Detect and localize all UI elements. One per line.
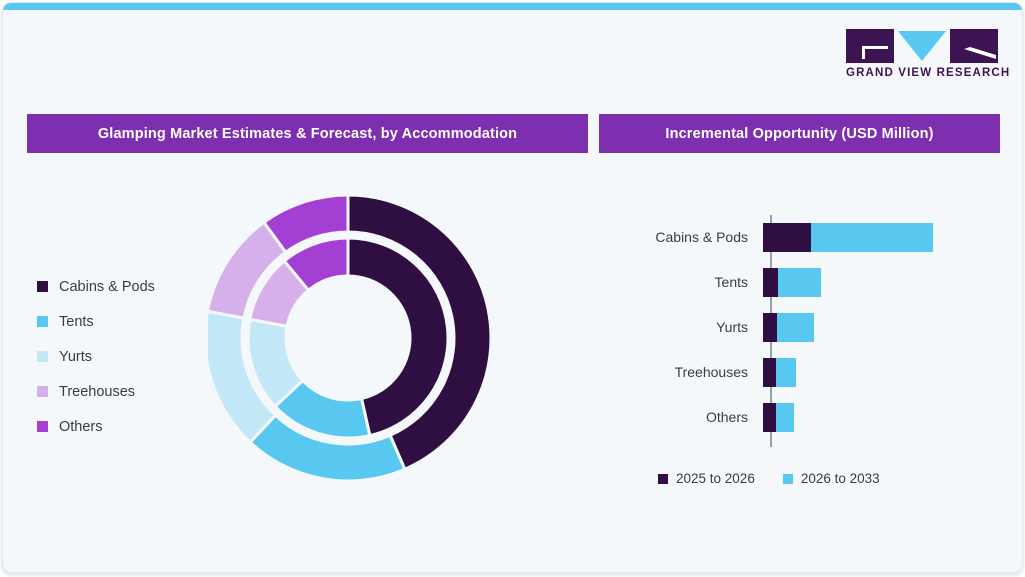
left-chart-title: Glamping Market Estimates & Forecast, by… [98,126,517,142]
bar-segment[interactable] [776,403,794,432]
bar-chart-row: Yurts [643,309,973,345]
donut-legend-item: Tents [37,304,212,339]
grand-view-research-logo: GRAND VIEW RESEARCH [846,29,998,83]
bar-track [763,403,794,432]
bar-legend-item: 2026 to 2033 [783,471,880,486]
bar-segment[interactable] [811,223,933,252]
bar-category-label: Cabins & Pods [643,229,763,245]
bar-segment[interactable] [778,268,821,297]
bar-chart-legend: 2025 to 20262026 to 2033 [658,471,880,486]
legend-color-swatch [37,421,48,432]
legend-color-swatch [37,281,48,292]
bar-legend-item: 2025 to 2026 [658,471,755,486]
bar-track [763,223,933,252]
bar-chart-row: Tents [643,264,973,300]
bar-legend-label: 2026 to 2033 [801,471,880,486]
right-chart-title-bar: Incremental Opportunity (USD Million) [599,114,1000,153]
bar-segment[interactable] [763,223,811,252]
bar-segment[interactable] [776,358,796,387]
bar-track [763,358,796,387]
donut-legend-label: Cabins & Pods [59,279,155,295]
bar-category-label: Yurts [643,319,763,335]
top-accent-bar [3,3,1022,10]
bar-category-label: Tents [643,274,763,290]
bar-legend-label: 2025 to 2026 [676,471,755,486]
bar-category-label: Others [643,409,763,425]
donut-legend-item: Cabins & Pods [37,269,212,304]
donut-svg [208,188,508,488]
donut-legend-label: Tents [59,314,94,330]
donut-legend-item: Others [37,409,212,444]
logo-mark-icon [846,29,998,63]
right-chart-title: Incremental Opportunity (USD Million) [665,126,933,142]
donut-legend-label: Yurts [59,349,92,365]
legend-color-swatch [37,351,48,362]
incremental-opportunity-bar-chart: Cabins & PodsTentsYurtsTreehousesOthers [643,211,973,451]
bar-chart-row: Others [643,399,973,435]
donut-legend-item: Treehouses [37,374,212,409]
donut-legend-label: Treehouses [59,384,135,400]
legend-color-swatch [37,316,48,327]
bar-segment[interactable] [763,358,776,387]
logo-text: GRAND VIEW RESEARCH [846,67,998,79]
bar-category-label: Treehouses [643,364,763,380]
bar-segment[interactable] [763,403,776,432]
bar-segment[interactable] [763,313,777,342]
bar-chart-row: Treehouses [643,354,973,390]
accommodation-donut-chart [208,188,508,488]
legend-color-swatch [783,474,793,484]
legend-color-swatch [37,386,48,397]
report-card: GRAND VIEW RESEARCH Glamping Market Esti… [2,2,1023,573]
bar-segment[interactable] [763,268,778,297]
donut-legend-item: Yurts [37,339,212,374]
donut-legend-label: Others [59,419,103,435]
left-chart-title-bar: Glamping Market Estimates & Forecast, by… [27,114,588,153]
bar-track [763,313,814,342]
donut-ring-inner [248,238,448,438]
bar-chart-row: Cabins & Pods [643,219,973,255]
legend-color-swatch [658,474,668,484]
bar-track [763,268,821,297]
bar-segment[interactable] [777,313,814,342]
donut-legend: Cabins & PodsTentsYurtsTreehousesOthers [37,269,212,444]
